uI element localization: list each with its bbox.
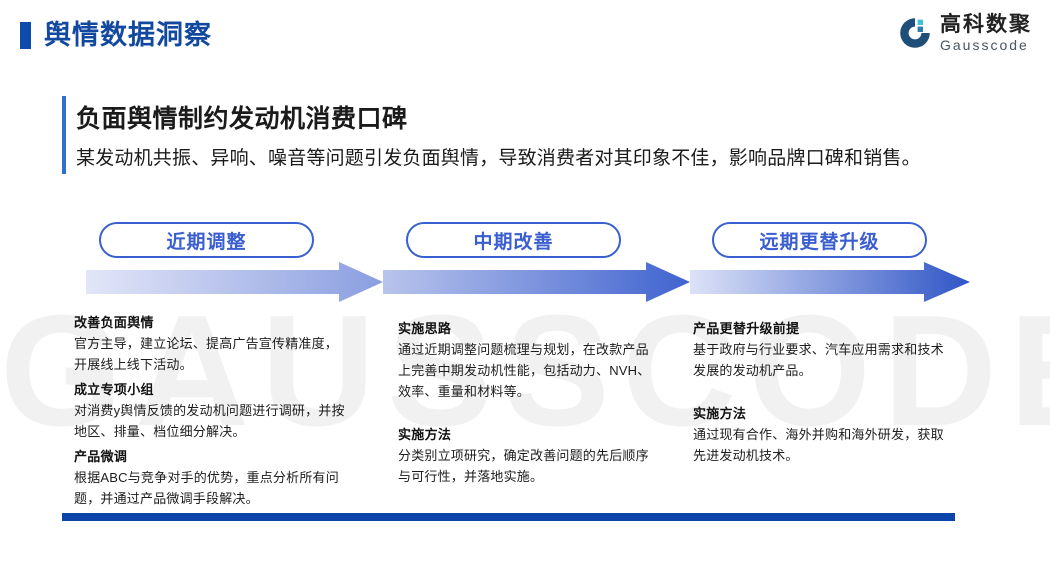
block-body: 官方主导，建立论坛、提高广告宣传精准度，开展线上线下活动。: [74, 333, 346, 375]
text-block: 实施方法 分类别立项研究，确定改善问题的先后顺序与可行性，并落地实施。: [398, 424, 654, 487]
block-heading: 产品更替升级前提: [693, 318, 955, 339]
logo-name-en: Gausscode: [940, 38, 1032, 52]
slide-root: GAUSSCODE 舆情数据洞察 高科数聚 Gausscode 负面舆情制约发动…: [0, 0, 1050, 588]
text-block: 实施思路 通过近期调整问题梳理与规划，在改款产品上完善中期发动机性能，包括动力、…: [398, 318, 654, 402]
slide-header: 舆情数据洞察: [0, 0, 1050, 70]
block-body: 通过近期调整问题梳理与规划，在改款产品上完善中期发动机性能，包括动力、NVH、效…: [398, 339, 654, 402]
text-block: 成立专项小组 对消费y舆情反馈的发动机问题进行调研，并按地区、排量、档位细分解决…: [74, 379, 346, 442]
text-block: 实施方法 通过现有合作、海外并购和海外研发，获取先进发动机技术。: [693, 403, 955, 466]
timeline-arrow: [86, 262, 970, 302]
block-heading: 成立专项小组: [74, 379, 346, 400]
logo-text: 高科数聚 Gausscode: [940, 14, 1032, 52]
block-body: 对消费y舆情反馈的发动机问题进行调研，并按地区、排量、档位细分解决。: [74, 400, 346, 442]
column-near-term: 改善负面舆情 官方主导，建立论坛、提高广告宣传精准度，开展线上线下活动。 成立专…: [74, 312, 346, 513]
gausscode-logo-icon: [898, 16, 932, 50]
text-block: 产品更替升级前提 基于政府与行业要求、汽车应用需求和技术发展的发动机产品。: [693, 318, 955, 381]
title-accent-bar: [62, 96, 66, 174]
block-body: 分类别立项研究，确定改善问题的先后顺序与可行性，并落地实施。: [398, 445, 654, 487]
text-block: 产品微调 根据ABC与竞争对手的优势，重点分析所有问题，并通过产品微调手段解决。: [74, 446, 346, 509]
page-subtitle: 某发动机共振、异响、噪音等问题引发负面舆情，导致消费者对其印象不佳，影响品牌口碑…: [76, 143, 921, 170]
phase-pill-mid-term[interactable]: 中期改善: [406, 222, 621, 258]
header-title: 舆情数据洞察: [44, 14, 212, 56]
bottom-accent-bar: [62, 513, 955, 521]
brand-logo: 高科数聚 Gausscode: [898, 14, 1032, 52]
block-heading: 改善负面舆情: [74, 312, 346, 333]
block-heading: 实施思路: [398, 318, 654, 339]
column-mid-term: 实施思路 通过近期调整问题梳理与规划，在改款产品上完善中期发动机性能，包括动力、…: [398, 318, 654, 491]
block-heading: 实施方法: [398, 424, 654, 445]
column-long-term: 产品更替升级前提 基于政府与行业要求、汽车应用需求和技术发展的发动机产品。 实施…: [693, 318, 955, 470]
text-block: 改善负面舆情 官方主导，建立论坛、提高广告宣传精准度，开展线上线下活动。: [74, 312, 346, 375]
phase-pill-near-term[interactable]: 近期调整: [99, 222, 314, 258]
logo-name-cn: 高科数聚: [940, 14, 1032, 35]
block-body: 通过现有合作、海外并购和海外研发，获取先进发动机技术。: [693, 424, 955, 466]
header-bullet-icon: [20, 22, 31, 49]
page-title: 负面舆情制约发动机消费口碑: [76, 99, 408, 135]
block-heading: 实施方法: [693, 403, 955, 424]
block-heading: 产品微调: [74, 446, 346, 467]
phase-pill-long-term[interactable]: 远期更替升级: [712, 222, 927, 258]
block-body: 基于政府与行业要求、汽车应用需求和技术发展的发动机产品。: [693, 339, 955, 381]
block-body: 根据ABC与竞争对手的优势，重点分析所有问题，并通过产品微调手段解决。: [74, 467, 346, 509]
